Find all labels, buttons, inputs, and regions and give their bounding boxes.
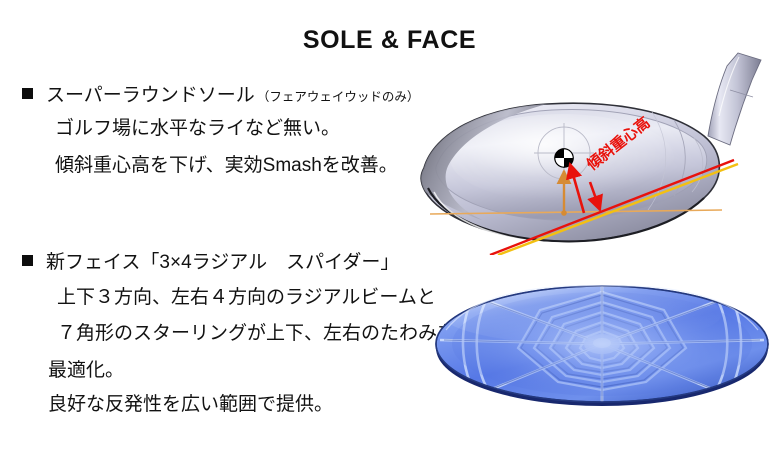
face-illustration — [432, 278, 772, 416]
bullet-2-line-4: 良好な反発性を広い範囲で提供。 — [48, 395, 333, 416]
hosel-shape — [708, 53, 761, 145]
bullet-item-2: 新フェイス「3×4ラジアル スパイダー」 — [22, 253, 399, 274]
bullet-1-line-2: 傾斜重心高を下げ、実効Smashを改善。 — [55, 156, 398, 177]
bullet-item-1: スーパーラウンドソール （フェアウェイウッドのみ） — [22, 86, 419, 107]
clubhead-body — [421, 103, 719, 243]
content-text-column: スーパーラウンドソール （フェアウェイウッドのみ） ゴルフ場に水平なライなど無い… — [0, 0, 420, 460]
bullet-2-line-3: 最適化。 — [48, 361, 124, 382]
bullet-1-note: （フェアウェイウッドのみ） — [257, 86, 420, 105]
bullet-2-line-2: ７角形のスターリングが上下、左右のたわみを — [57, 324, 456, 345]
square-bullet-icon — [22, 255, 33, 266]
bullet-2-line-1: 上下３方向、左右４方向のラジアルビームと — [57, 288, 436, 309]
slide-canvas: SOLE & FACE スーパーラウンドソール （フェアウェイウッドのみ） ゴル… — [0, 0, 779, 460]
bullet-1-line-1: ゴルフ場に水平なライなど無い。 — [55, 119, 340, 140]
square-bullet-icon — [22, 88, 33, 99]
bullet-2-heading: 新フェイス「3×4ラジアル スパイダー」 — [46, 253, 399, 274]
bullet-1-heading: スーパーラウンドソール — [46, 86, 255, 107]
